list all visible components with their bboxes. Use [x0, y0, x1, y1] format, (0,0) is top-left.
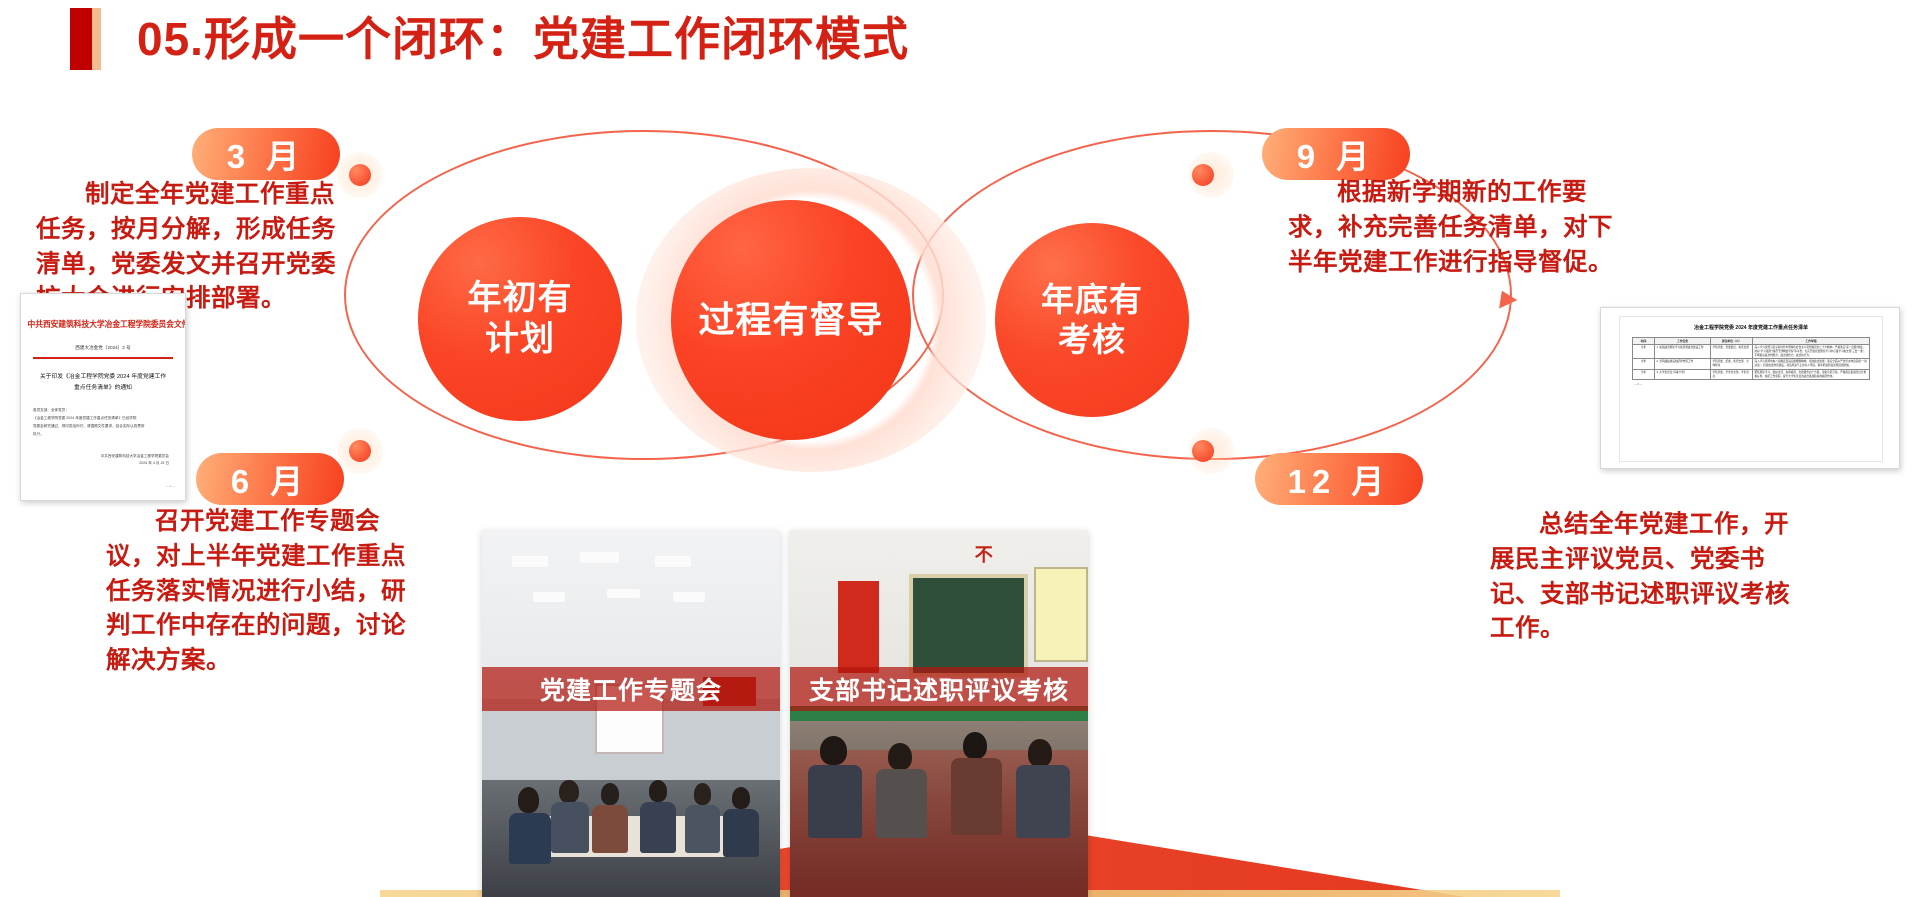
title-accent-bar-light	[92, 8, 101, 70]
table-row: 全年 1. 加强政治理论学习和思想政治建设工作 学院党委、党委委员、各党支部 深…	[1633, 345, 1870, 359]
circle-plan-label: 年初有 计划	[468, 278, 573, 361]
document-body-line-4: 执行。	[33, 430, 173, 438]
document-page-number: — 1 —	[21, 484, 185, 488]
photo-caption-party-meeting: 党建工作专题会	[482, 667, 780, 711]
node-dot-june	[349, 440, 371, 462]
row-dept-3: 学院党委、学生党支部、学生党员	[1711, 369, 1753, 380]
circle-plan: 年初有 计划	[418, 217, 622, 421]
photo-caption-branch-review: 支部书记述职评议考核	[790, 667, 1088, 711]
month-pill-june[interactable]: 6 月	[196, 453, 344, 505]
row-dept-2: 学院党委、纪委、各党支部、全体师生	[1711, 359, 1753, 370]
node-dot-december	[1192, 440, 1214, 462]
task-list-page-number: — 2 —	[1634, 383, 1882, 386]
document-number: 西建大冶金党〔2024〕2 号	[21, 345, 185, 351]
month-pill-december[interactable]: 12 月	[1255, 453, 1423, 505]
month-text-june: 召开党建工作专题会议，对上半年党建工作重点任务落实情况进行小结，研判工作中存在的…	[106, 505, 426, 679]
document-title-line-2: 重点任务清单》的通知	[31, 383, 175, 394]
document-signature-date: 2024 年 4 月 15 日	[21, 460, 169, 468]
document-signature-org: 中共西安建筑科技大学冶金工程学院委员会	[21, 453, 169, 461]
slide-title-row: 05.形成一个闭环：党建工作闭环模式	[70, 8, 909, 70]
table-col-dept: 责任单位（人）	[1711, 338, 1753, 345]
node-dot-september	[1192, 164, 1214, 186]
table-col-period: 时间	[1633, 338, 1655, 345]
row-task-3: 3. 大学生党员“育魂”计划	[1655, 369, 1711, 380]
photo-card-branch-review[interactable]: 不 支部书记述职评议考核	[790, 530, 1088, 897]
page-title: 05.形成一个闭环：党建工作闭环模式	[137, 8, 909, 70]
circle-supervise-label: 过程有督导	[698, 298, 883, 342]
row-measures-2: 深入学习贯彻中央八项规定及其实施细则精神，强化政治监督，落实全面从严治党主体责任…	[1753, 359, 1870, 370]
row-task-1: 1. 加强政治理论学习和思想政治建设工作	[1655, 345, 1711, 359]
row-period-3: 全年	[1633, 369, 1655, 380]
row-dept-1: 学院党委、党委委员、各党支部	[1711, 345, 1753, 359]
photo-image-branch-review: 不	[790, 530, 1088, 897]
row-period-1: 全年	[1633, 345, 1655, 359]
slide-root: 05.形成一个闭环：党建工作闭环模式 年初有 计划 过程有督导 年底有 考核 3…	[0, 0, 1916, 897]
circle-assess: 年底有 考核	[995, 223, 1189, 417]
document-divider	[33, 357, 173, 359]
document-body-line-1: 各党支部、全体党员：	[33, 406, 173, 414]
row-period-2: 全年	[1633, 359, 1655, 370]
task-list-sheet: 冶金工程学院党委 2024 年度党建工作重点任务清单 时间 工作任务 责任单位（…	[1619, 316, 1883, 462]
task-list-title: 冶金工程学院党委 2024 年度党建工作重点任务清单	[1620, 324, 1882, 331]
month-text-september: 根据新学期新的工作要求，补充完善任务清单，对下半年党建工作进行指导督促。	[1288, 176, 1618, 280]
row-task-2: 2. 党风廉政建设和纪律作风工作	[1655, 359, 1711, 370]
table-row: 全年 3. 大学生党员“育魂”计划 学院党委、学生党支部、学生党员 聚焦理论学习…	[1633, 369, 1870, 380]
document-body-line-3: 党委会研究通过，现印发给你们，请遵照文件要求，结合实际认真贯彻	[33, 422, 173, 430]
photo-image-party-meeting	[482, 530, 780, 897]
circle-assess-label: 年底有 考核	[1041, 280, 1143, 361]
document-title-line-1: 关于印发《冶金工程学院党委 2024 年度党建工作	[31, 372, 175, 383]
document-thumbnail-notice[interactable]: 中共西安建筑科技大学冶金工程学院委员会文件 西建大冶金党〔2024〕2 号 关于…	[20, 293, 186, 501]
table-header-row: 时间 工作任务 责任单位（人） 工作举措	[1633, 338, 1870, 345]
month-text-december: 总结全年党建工作，开展民主评议党员、党委书记、支部书记述职评议考核工作。	[1490, 508, 1810, 647]
document-thumbnail-task-list[interactable]: 冶金工程学院党委 2024 年度党建工作重点任务清单 时间 工作任务 责任单位（…	[1600, 307, 1900, 469]
document-body-line-2: 《冶金工程学院党委 2024 年度党建工作重点任务清单》已经学院	[33, 414, 173, 422]
photo-card-party-meeting[interactable]: 党建工作专题会	[482, 530, 780, 897]
row-measures-3: 聚焦理论学习、组织生活、先锋模范、志愿服务四个方面，强化示范引领，严格落实发展党…	[1753, 369, 1870, 380]
month-pill-september[interactable]: 9 月	[1262, 128, 1410, 180]
table-col-task: 工作任务	[1655, 338, 1711, 345]
node-dot-march	[349, 164, 371, 186]
document-header: 中共西安建筑科技大学冶金工程学院委员会文件	[28, 318, 179, 330]
table-row: 全年 2. 党风廉政建设和纪律作风工作 学院党委、纪委、各党支部、全体师生 深入…	[1633, 359, 1870, 370]
circle-supervise: 过程有督导	[671, 200, 911, 440]
title-accent-bar-dark	[70, 8, 92, 70]
row-measures-1: 深入学习贯彻习近平新时代中国特色社会主义思想和党的二十大精神，严格落实“第一议题…	[1753, 345, 1870, 359]
table-col-measures: 工作举措	[1753, 338, 1870, 345]
task-list-table: 时间 工作任务 责任单位（人） 工作举措 全年 1. 加强政治理论学习和思想政治…	[1632, 337, 1870, 380]
month-pill-march[interactable]: 3 月	[192, 128, 340, 180]
